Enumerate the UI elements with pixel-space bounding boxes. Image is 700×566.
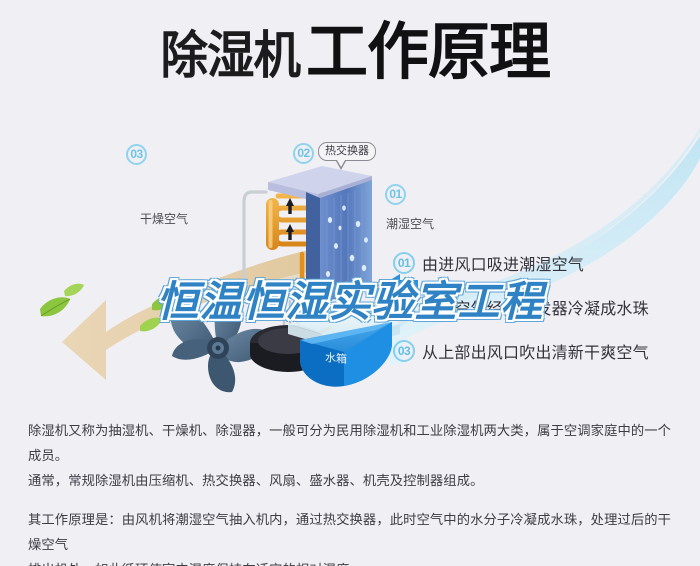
infographic-page: 除湿机工作原理 — [0, 0, 700, 566]
legend-number: 03 — [393, 340, 415, 362]
page-title-part1: 除湿机 — [160, 30, 300, 81]
paragraph-1-line-2: 通常，常规除湿机由压缩机、热交换器、风扇、盛水器、机壳及控制器组成。 — [28, 468, 678, 493]
legend-label: 从上部出风口吹出清新干爽空气 — [422, 339, 649, 363]
heat-exchanger-badge: 02 — [293, 143, 314, 164]
watermark-text: 恒温恒湿实验室工程 — [0, 268, 700, 329]
water-tank-label: 水箱 — [325, 349, 347, 367]
page-title-part2: 工作原理 — [306, 22, 550, 84]
paragraph-2-line-1: 其工作原理是：由风机将潮湿空气抽入机内，通过热交换器，此时空气中的水分子冷凝成水… — [28, 507, 678, 557]
heat-exchanger-bubble: 热交换器 — [318, 142, 376, 161]
accumulator-cylinder — [266, 198, 279, 250]
paragraph-1-line-1: 除湿机又称为抽湿机、干燥机、除湿器，一般可分为民用除湿机和工业除湿机两大类，属于… — [28, 418, 678, 468]
humid-air-badge: 01 — [385, 184, 406, 205]
dry-air-badge: 03 — [126, 144, 147, 165]
page-title: 除湿机工作原理 — [0, 22, 700, 84]
humid-air-label: 潮湿空气 — [386, 215, 434, 232]
heat-exchanger-bubble-tail-inner — [337, 160, 345, 167]
list-item: 03 从上部出风口吹出清新干爽空气 — [393, 336, 693, 366]
body-copy: 除湿机又称为抽湿机、干燥机、除湿器，一般可分为民用除湿机和工业除湿机两大类，属于… — [28, 418, 678, 566]
paragraph-2-line-2: 排出机外，如此循环使室内湿度保持在适宜的相对湿度。 — [28, 557, 678, 566]
dry-air-label: 干燥空气 — [140, 210, 188, 227]
paragraph-gap — [28, 493, 678, 507]
